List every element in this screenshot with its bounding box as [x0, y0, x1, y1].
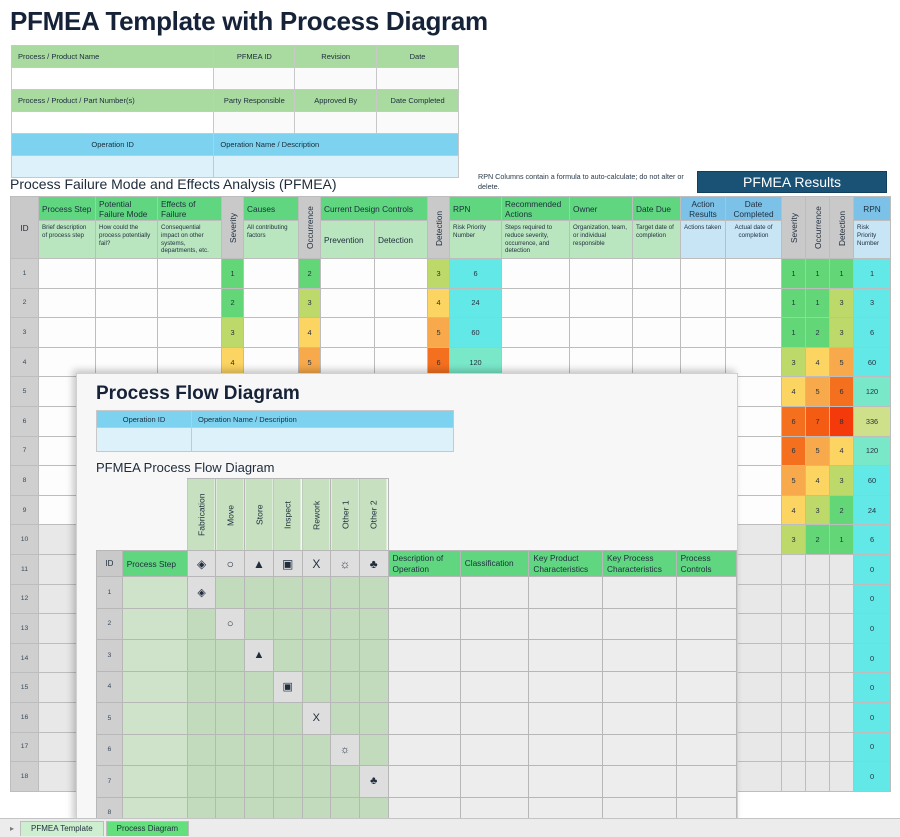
process-info-table: Process / Product Name PFMEA ID Revision…	[11, 45, 459, 178]
cell-result-severity[interactable]	[782, 673, 806, 703]
sheet-tab-0[interactable]: PFMEA Template	[20, 821, 104, 836]
cell-effects[interactable]	[158, 318, 222, 348]
cell-result-occurrence[interactable]	[806, 554, 830, 584]
cell-date-due[interactable]	[633, 318, 681, 348]
cell-result-rpn: 0	[854, 584, 891, 614]
cell-result-rpn: 0	[854, 702, 891, 732]
cell-result-occurrence[interactable]: 5	[806, 377, 830, 407]
info-label-date-completed: Date Completed	[377, 90, 459, 112]
overlay-label-operation-id: Operation ID	[97, 411, 192, 428]
row-id-cell: 9	[11, 495, 39, 525]
flow-row-data-0[interactable]	[388, 703, 460, 735]
cell-result-detection[interactable]	[830, 584, 854, 614]
flow-symbol-col-label-5: Other 1	[331, 479, 360, 551]
flow-row-data-0[interactable]	[388, 640, 460, 672]
cell-process-step[interactable]	[39, 259, 96, 289]
flow-symbol-cell-empty[interactable]	[273, 703, 302, 735]
flow-symbol-cell-empty[interactable]	[187, 703, 216, 735]
flow-symbol-cell-empty[interactable]	[331, 671, 360, 703]
flow-symbol-cell-empty[interactable]	[216, 671, 245, 703]
flow-symbol-cell-empty[interactable]	[216, 640, 245, 672]
pfmea-col-rpn: RPN	[450, 197, 502, 221]
overlay-value-operation-name[interactable]	[192, 428, 454, 452]
cell-result-detection[interactable]: 5	[830, 347, 854, 377]
overlay-op-value-row	[97, 428, 454, 452]
flow-row-id: 5	[97, 703, 123, 735]
flow-symbol-cell-empty[interactable]	[331, 766, 360, 798]
flow-row-data-4[interactable]	[676, 703, 736, 735]
pfmea-sub-process-step: Brief description of process step	[39, 221, 96, 259]
flow-row-process-step[interactable]	[122, 766, 187, 798]
flow-row-process-step[interactable]	[122, 640, 187, 672]
info-value-process-product-name[interactable]	[12, 68, 214, 90]
flow-row-process-step[interactable]	[122, 577, 187, 609]
flow-row-data-1[interactable]	[460, 577, 529, 609]
flow-row-id: 6	[97, 734, 123, 766]
info-value-revision[interactable]	[295, 68, 377, 90]
info-value-operation-name[interactable]	[214, 156, 459, 178]
flow-symbol-col-label-6: Other 2	[359, 479, 388, 551]
cell-result-severity[interactable]	[782, 554, 806, 584]
flow-row-data-0[interactable]	[388, 608, 460, 640]
flow-symbol-cell-empty[interactable]	[359, 640, 388, 672]
flow-symbol-cell-empty[interactable]	[245, 734, 274, 766]
cell-owner[interactable]	[570, 318, 633, 348]
info-value-row-2	[12, 112, 459, 134]
pfmea-sub-owner: Organization, team, or individual respon…	[570, 221, 633, 259]
flow-symbol-col-label-3: Inspect	[273, 479, 302, 551]
pfmea-sub-rpn: Risk Priority Number	[450, 221, 502, 259]
cell-result-rpn: 6	[854, 525, 891, 555]
cell-result-rpn: 1	[854, 259, 891, 289]
flow-symbol-cell-empty[interactable]	[245, 577, 274, 609]
cell-result-rpn: 3	[854, 288, 891, 318]
row-id-cell: 10	[11, 525, 39, 555]
cell-result-occurrence[interactable]	[806, 584, 830, 614]
flow-symbol-cell-empty[interactable]	[359, 577, 388, 609]
info-label-pfmea-id: PFMEA ID	[214, 46, 295, 68]
flow-symbol-cell-empty[interactable]	[331, 703, 360, 735]
cell-result-detection[interactable]	[830, 762, 854, 792]
pfmea-sub-detection-control: Detection	[375, 221, 428, 259]
cell-action-results[interactable]	[681, 288, 726, 318]
pfmea-col-result-detection: Detection	[830, 197, 854, 259]
flow-col-right-3: Key Process Characteristics	[602, 551, 676, 577]
pfmea-sub-causes: All contributing factors	[244, 221, 299, 259]
flow-row-data-2[interactable]	[529, 671, 603, 703]
flow-row-data-2[interactable]	[529, 608, 603, 640]
club-icon: ♣	[359, 551, 388, 577]
pfmea-header-row-main: ID Process Step Potential Failure Mode E…	[11, 197, 891, 221]
flow-symbol-col-label-1: Move	[216, 479, 245, 551]
tab-scroll-right-icon[interactable]: ▸	[4, 824, 20, 833]
cell-process-step[interactable]	[39, 288, 96, 318]
flow-symbol-cell-empty[interactable]	[216, 703, 245, 735]
square-in-square-icon[interactable]: ▣	[273, 671, 302, 703]
flow-row-data-3[interactable]	[602, 671, 676, 703]
pfmea-sub-recommended-actions: Steps required to reduce severity, occur…	[502, 221, 570, 259]
cell-result-detection[interactable]	[830, 643, 854, 673]
info-value-part-numbers[interactable]	[12, 112, 214, 134]
flow-symbol-cell-empty[interactable]	[187, 671, 216, 703]
cell-recommended-actions[interactable]	[502, 259, 570, 289]
cell-recommended-actions[interactable]	[502, 288, 570, 318]
flow-symbol-cell-empty[interactable]	[216, 577, 245, 609]
cell-result-severity[interactable]: 6	[782, 436, 806, 466]
row-id-cell: 2	[11, 288, 39, 318]
pfmea-sub-prevention: Prevention	[321, 221, 375, 259]
flow-corner-blank-step	[122, 479, 187, 551]
flow-symbol-cell-empty[interactable]	[302, 671, 331, 703]
flow-symbol-cell-empty[interactable]	[331, 608, 360, 640]
overlay-subheading: PFMEA Process Flow Diagram	[96, 460, 274, 475]
pfmea-col-recommended-actions: Recommended Actions	[502, 197, 570, 221]
cell-prevention[interactable]	[321, 318, 375, 348]
cell-result-detection[interactable]	[830, 554, 854, 584]
cell-result-detection[interactable]: 8	[830, 406, 854, 436]
flow-row-data-3[interactable]	[602, 608, 676, 640]
cell-severity[interactable]: 1	[222, 259, 244, 289]
flow-row-process-step[interactable]	[122, 703, 187, 735]
info-label-operation-id: Operation ID	[12, 134, 214, 156]
cell-result-detection[interactable]	[830, 673, 854, 703]
flow-symbol-cell-empty[interactable]	[359, 734, 388, 766]
row-id-cell: 8	[11, 466, 39, 496]
flow-row-id: 1	[97, 577, 123, 609]
overlay-label-operation-name: Operation Name / Description	[192, 411, 454, 428]
flow-symbol-cell-empty[interactable]	[273, 640, 302, 672]
cell-result-severity[interactable]: 1	[782, 318, 806, 348]
cell-result-occurrence[interactable]	[806, 732, 830, 762]
flow-row-data-1[interactable]	[460, 734, 529, 766]
club-icon[interactable]: ♣	[359, 766, 388, 798]
flow-row-id: 2	[97, 608, 123, 640]
flow-corner-blank-right-4	[676, 479, 736, 551]
cell-result-occurrence[interactable]	[806, 614, 830, 644]
flow-row[interactable]: 7♣	[97, 766, 737, 798]
cell-result-severity[interactable]	[782, 732, 806, 762]
cell-detection-control[interactable]	[375, 288, 428, 318]
flow-row-data-3[interactable]	[602, 766, 676, 798]
cell-result-detection[interactable]: 3	[830, 318, 854, 348]
info-value-date[interactable]	[377, 68, 459, 90]
cell-rpn: 6	[450, 259, 502, 289]
cell-result-severity[interactable]: 1	[782, 259, 806, 289]
info-label-process-product-name: Process / Product Name	[12, 46, 214, 68]
flow-symbol-cell-empty[interactable]	[187, 608, 216, 640]
table-row[interactable]: 3345601236	[11, 318, 891, 348]
cell-result-occurrence[interactable]: 1	[806, 259, 830, 289]
info-label-party-responsible: Party Responsible	[214, 90, 295, 112]
cell-result-severity[interactable]: 3	[782, 525, 806, 555]
cell-date-completed[interactable]	[726, 259, 782, 289]
flow-row-data-0[interactable]	[388, 766, 460, 798]
flow-row-data-3[interactable]	[602, 640, 676, 672]
x-icon[interactable]: X	[302, 703, 331, 735]
cell-result-rpn: 6	[854, 318, 891, 348]
flow-row-data-2[interactable]	[529, 766, 603, 798]
cell-prevention[interactable]	[321, 288, 375, 318]
flow-symbol-cell-empty[interactable]	[245, 608, 274, 640]
cell-result-rpn: 0	[854, 762, 891, 792]
cell-result-occurrence[interactable]: 7	[806, 406, 830, 436]
sun-icon[interactable]: ☼	[331, 734, 360, 766]
flow-row-data-0[interactable]	[388, 577, 460, 609]
flow-row-process-step[interactable]	[122, 734, 187, 766]
cell-effects[interactable]	[158, 259, 222, 289]
flow-row[interactable]: 5X	[97, 703, 737, 735]
table-row[interactable]: 2234241133	[11, 288, 891, 318]
circle-icon[interactable]: ○	[216, 608, 245, 640]
sun-icon: ☼	[331, 551, 360, 577]
flow-row-data-3[interactable]	[602, 577, 676, 609]
flow-row[interactable]: 6☼	[97, 734, 737, 766]
cell-result-severity[interactable]: 5	[782, 466, 806, 496]
info-label-part-numbers: Process / Product / Part Number(s)	[12, 90, 214, 112]
pfmea-results-banner: PFMEA Results	[697, 171, 887, 193]
cell-detection[interactable]: 5	[428, 318, 450, 348]
flow-row-data-3[interactable]	[602, 734, 676, 766]
flow-symbol-col-label-4: Rework	[302, 479, 331, 551]
flow-row-data-4[interactable]	[676, 608, 736, 640]
flow-row-data-2[interactable]	[529, 577, 603, 609]
cell-effects[interactable]	[158, 288, 222, 318]
flow-symbol-cell-empty[interactable]	[331, 640, 360, 672]
flow-row[interactable]: 1◈	[97, 577, 737, 609]
flow-row-data-2[interactable]	[529, 640, 603, 672]
cell-result-severity[interactable]: 3	[782, 347, 806, 377]
cell-result-detection[interactable]: 1	[830, 525, 854, 555]
row-id-cell: 17	[11, 732, 39, 762]
flow-symbol-cell-empty[interactable]	[331, 577, 360, 609]
flow-symbol-cell-empty[interactable]	[302, 577, 331, 609]
flow-symbol-cell-empty[interactable]	[273, 734, 302, 766]
row-id-cell: 12	[11, 584, 39, 614]
cell-result-severity[interactable]	[782, 702, 806, 732]
flow-row-process-step[interactable]	[122, 671, 187, 703]
cell-result-severity[interactable]: 4	[782, 377, 806, 407]
flow-symbol-cell-empty[interactable]	[302, 734, 331, 766]
flow-symbol-cell-empty[interactable]	[216, 734, 245, 766]
flow-row-data-4[interactable]	[676, 671, 736, 703]
flow-corner-blank-right-3	[602, 479, 676, 551]
cell-detection-control[interactable]	[375, 259, 428, 289]
spreadsheet-screenshot: PFMEA Template with Process Diagram Proc…	[0, 0, 900, 837]
table-row[interactable]: 112361111	[11, 259, 891, 289]
cell-result-occurrence[interactable]	[806, 762, 830, 792]
flow-row[interactable]: 2○	[97, 608, 737, 640]
flow-symbol-cell-empty[interactable]	[302, 640, 331, 672]
cell-occurrence[interactable]: 3	[299, 288, 321, 318]
cell-detection[interactable]: 3	[428, 259, 450, 289]
sheet-tab-1[interactable]: Process Diagram	[106, 821, 189, 836]
flow-row-data-1[interactable]	[460, 703, 529, 735]
info-value-party-responsible[interactable]	[214, 112, 295, 134]
cell-result-detection[interactable]	[830, 702, 854, 732]
cell-result-occurrence[interactable]: 5	[806, 436, 830, 466]
cell-process-step[interactable]	[39, 318, 96, 348]
flow-row-data-4[interactable]	[676, 734, 736, 766]
flow-row-data-2[interactable]	[529, 703, 603, 735]
cell-result-occurrence[interactable]: 1	[806, 288, 830, 318]
cell-occurrence[interactable]: 2	[299, 259, 321, 289]
cell-result-occurrence[interactable]: 4	[806, 347, 830, 377]
cell-owner[interactable]	[570, 259, 633, 289]
triangle-icon[interactable]: ▲	[245, 640, 274, 672]
flow-row-id: 3	[97, 640, 123, 672]
cell-result-occurrence[interactable]: 3	[806, 495, 830, 525]
cell-result-occurrence[interactable]	[806, 673, 830, 703]
pfmea-col-result-severity: Severity	[782, 197, 806, 259]
flow-symbol-cell-empty[interactable]	[187, 640, 216, 672]
cell-result-occurrence[interactable]: 2	[806, 525, 830, 555]
flow-symbol-cell-empty[interactable]	[187, 766, 216, 798]
cell-result-severity[interactable]: 6	[782, 406, 806, 436]
info-value-operation-id[interactable]	[12, 156, 214, 178]
cell-result-rpn: 120	[854, 377, 891, 407]
flow-row-process-step[interactable]	[122, 608, 187, 640]
flow-symbol-cell-empty[interactable]	[216, 766, 245, 798]
cell-detection-control[interactable]	[375, 318, 428, 348]
cell-occurrence[interactable]: 4	[299, 318, 321, 348]
flow-row-data-0[interactable]	[388, 671, 460, 703]
cell-result-occurrence[interactable]: 4	[806, 466, 830, 496]
cell-result-occurrence[interactable]	[806, 702, 830, 732]
circle-icon: ○	[216, 551, 245, 577]
flow-row-data-1[interactable]	[460, 608, 529, 640]
flow-row-data-4[interactable]	[676, 640, 736, 672]
flow-col-right-0: Description of Operation	[388, 551, 460, 577]
info-value-approved-by[interactable]	[295, 112, 377, 134]
cell-severity[interactable]: 2	[222, 288, 244, 318]
cell-result-severity[interactable]	[782, 614, 806, 644]
info-label-operation-name: Operation Name / Description	[214, 134, 459, 156]
cell-prevention[interactable]	[321, 259, 375, 289]
info-value-row-3	[12, 156, 459, 178]
cell-result-detection[interactable]: 4	[830, 436, 854, 466]
cell-result-detection[interactable]	[830, 732, 854, 762]
page-title: PFMEA Template with Process Diagram	[10, 6, 488, 37]
flow-row-data-3[interactable]	[602, 703, 676, 735]
flow-symbol-cell-empty[interactable]	[302, 608, 331, 640]
flow-symbol-cell-empty[interactable]	[273, 577, 302, 609]
cell-date-completed[interactable]	[726, 288, 782, 318]
cell-result-rpn: 0	[854, 732, 891, 762]
flow-row[interactable]: 3▲	[97, 640, 737, 672]
cell-date-completed[interactable]	[726, 318, 782, 348]
process-flow-table: FabricationMoveStoreInspectReworkOther 1…	[96, 478, 737, 825]
cell-failure-mode[interactable]	[96, 288, 158, 318]
flow-symbol-cell-empty[interactable]	[359, 608, 388, 640]
cell-causes[interactable]	[244, 288, 299, 318]
flow-symbol-cell-empty[interactable]	[359, 703, 388, 735]
info-value-row-1	[12, 68, 459, 90]
cell-rpn: 24	[450, 288, 502, 318]
pfmea-col-occurrence: Occurrence	[299, 197, 321, 259]
cell-severity[interactable]: 3	[222, 318, 244, 348]
info-label-date: Date	[377, 46, 459, 68]
cell-result-severity[interactable]	[782, 643, 806, 673]
cell-result-rpn: 120	[854, 436, 891, 466]
cell-result-detection[interactable]: 3	[830, 466, 854, 496]
flow-corner-blank-right-0	[388, 479, 460, 551]
cell-result-detection[interactable]	[830, 614, 854, 644]
cell-result-detection[interactable]: 2	[830, 495, 854, 525]
cell-result-detection[interactable]: 1	[830, 259, 854, 289]
row-id-cell: 11	[11, 554, 39, 584]
flow-symbol-cell-empty[interactable]	[245, 671, 274, 703]
pfmea-col-date-due: Date Due	[633, 197, 681, 221]
cell-action-results[interactable]	[681, 318, 726, 348]
cell-date-due[interactable]	[633, 259, 681, 289]
flow-row-data-0[interactable]	[388, 734, 460, 766]
process-flow-diagram-panel[interactable]: Process Flow Diagram Operation ID Operat…	[76, 373, 738, 825]
overlay-value-operation-id[interactable]	[97, 428, 192, 452]
overlay-title: Process Flow Diagram	[96, 383, 300, 405]
flow-symbol-cell-empty[interactable]	[273, 608, 302, 640]
flow-symbol-cell-empty[interactable]	[273, 766, 302, 798]
info-value-date-completed[interactable]	[377, 112, 459, 134]
flow-row-data-1[interactable]	[460, 640, 529, 672]
flow-symbol-cell-empty[interactable]	[245, 703, 274, 735]
cell-result-detection[interactable]: 3	[830, 288, 854, 318]
cell-failure-mode[interactable]	[96, 318, 158, 348]
diamond-in-diamond-icon[interactable]: ◈	[187, 577, 216, 609]
cell-result-detection[interactable]: 6	[830, 377, 854, 407]
info-label-approved-by: Approved By	[295, 90, 377, 112]
flow-symbol-cell-empty[interactable]	[187, 734, 216, 766]
overlay-op-header-row: Operation ID Operation Name / Descriptio…	[97, 411, 454, 428]
cell-result-rpn: 60	[854, 466, 891, 496]
cell-causes[interactable]	[244, 259, 299, 289]
flow-row-data-4[interactable]	[676, 577, 736, 609]
cell-result-rpn: 24	[854, 495, 891, 525]
flow-row-id: 7	[97, 766, 123, 798]
cell-detection[interactable]: 4	[428, 288, 450, 318]
row-id-cell: 18	[11, 762, 39, 792]
info-value-pfmea-id[interactable]	[214, 68, 295, 90]
info-header-row-2: Process / Product / Part Number(s) Party…	[12, 90, 459, 112]
flow-symbol-cell-empty[interactable]	[359, 671, 388, 703]
cell-date-due[interactable]	[633, 288, 681, 318]
cell-recommended-actions[interactable]	[502, 318, 570, 348]
cell-result-occurrence[interactable]: 2	[806, 318, 830, 348]
cell-owner[interactable]	[570, 288, 633, 318]
flow-row-data-4[interactable]	[676, 766, 736, 798]
cell-result-severity[interactable]: 1	[782, 288, 806, 318]
flow-symbol-cell-empty[interactable]	[302, 766, 331, 798]
pfmea-sub-date-completed: Actual date of completion	[726, 221, 782, 259]
cell-result-severity[interactable]: 4	[782, 495, 806, 525]
cell-result-occurrence[interactable]	[806, 643, 830, 673]
cell-result-severity[interactable]	[782, 584, 806, 614]
flow-row-data-2[interactable]	[529, 734, 603, 766]
cell-result-severity[interactable]	[782, 762, 806, 792]
cell-action-results[interactable]	[681, 259, 726, 289]
cell-causes[interactable]	[244, 318, 299, 348]
flow-col-right-4: Process Controls	[676, 551, 736, 577]
row-id-cell: 7	[11, 436, 39, 466]
pfmea-sub-date-due: Target date of completion	[633, 221, 681, 259]
flow-row-data-1[interactable]	[460, 766, 529, 798]
cell-failure-mode[interactable]	[96, 259, 158, 289]
flow-symbol-cell-empty[interactable]	[245, 766, 274, 798]
flow-row-data-1[interactable]	[460, 671, 529, 703]
flow-row[interactable]: 4▣	[97, 671, 737, 703]
rpn-note: RPN Columns contain a formula to auto-ca…	[478, 172, 688, 193]
process-flow-head: FabricationMoveStoreInspectReworkOther 1…	[97, 479, 737, 577]
triangle-icon: ▲	[245, 551, 274, 577]
